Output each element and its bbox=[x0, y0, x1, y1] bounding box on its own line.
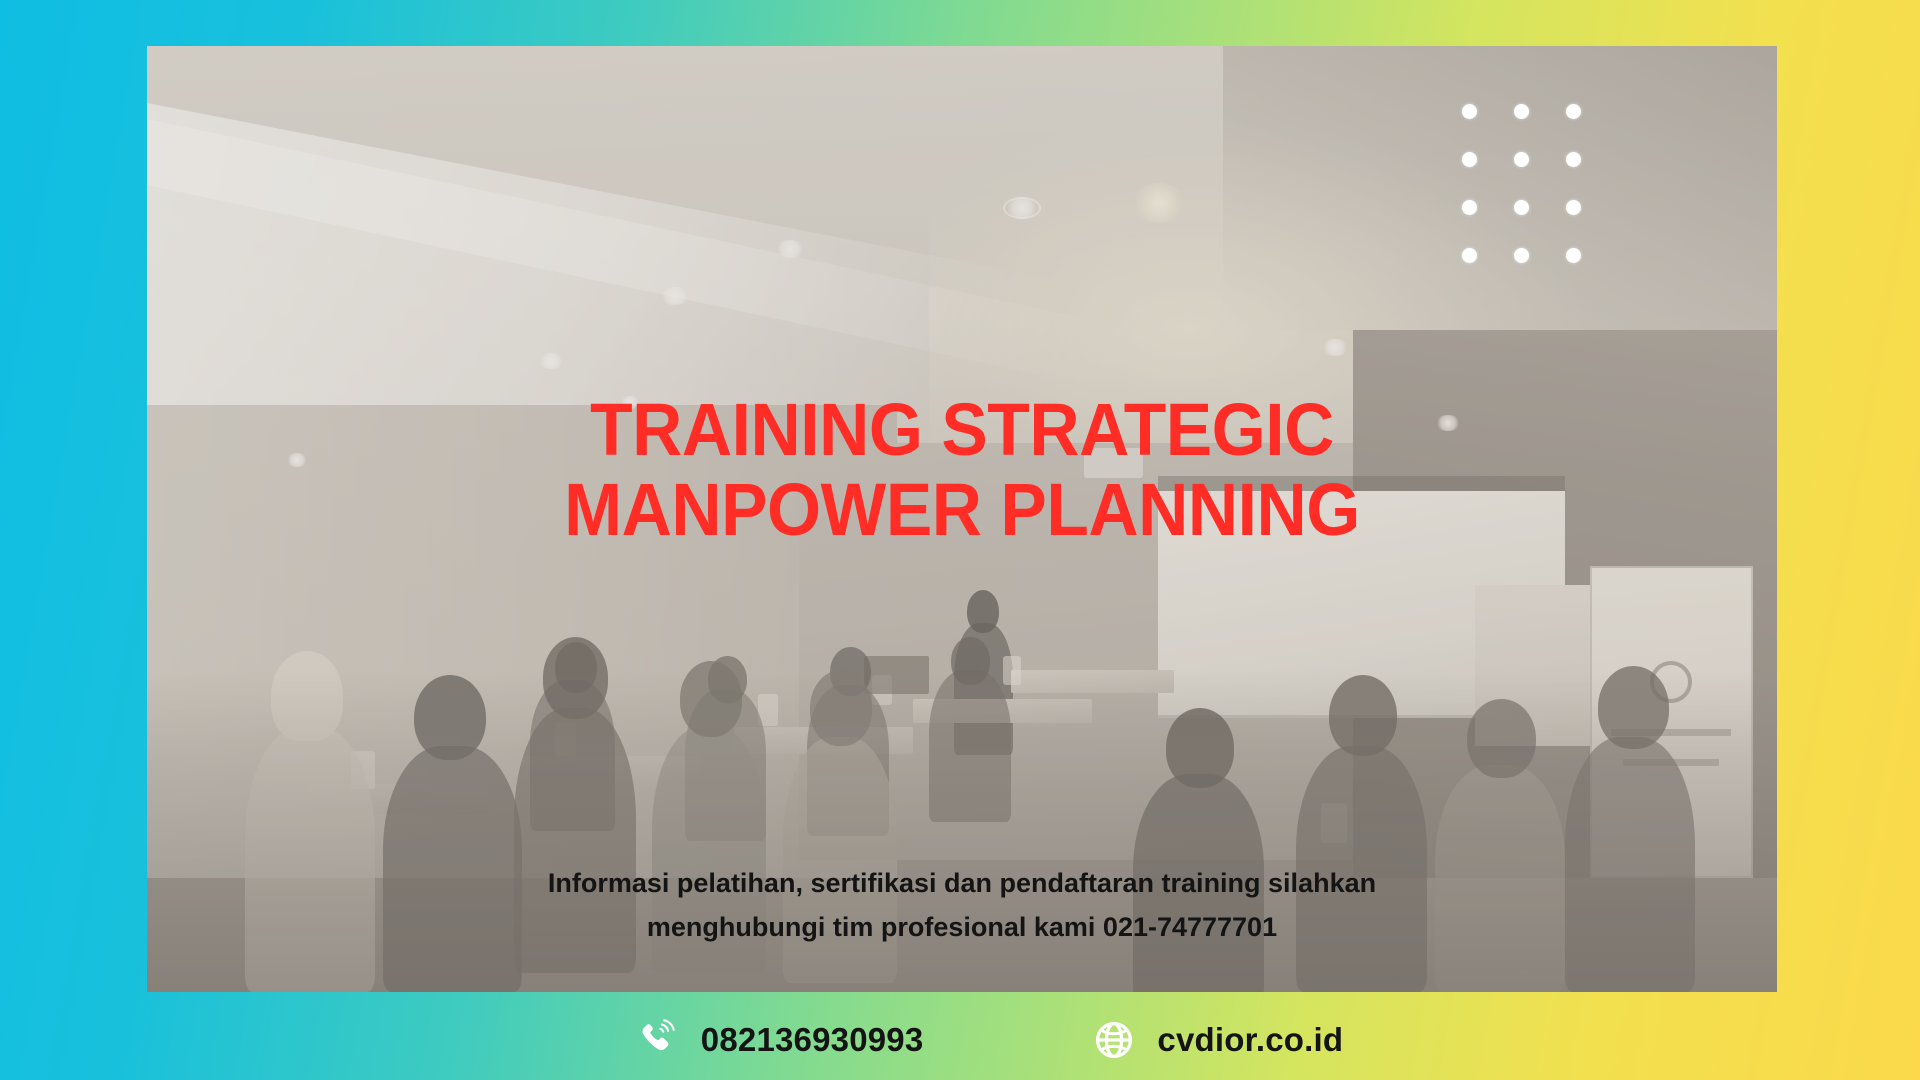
sub-caption-line-1: Informasi pelatihan, sertifikasi dan pen… bbox=[147, 861, 1777, 905]
grid-dot bbox=[1462, 152, 1477, 167]
grid-dot bbox=[1462, 104, 1477, 119]
contact-bar: 082136930993 cvdior.co.id bbox=[0, 1000, 1920, 1080]
training-room-photo: TRAINING STRATEGIC MANPOWER PLANNING Inf… bbox=[147, 46, 1777, 992]
phone-ringing-icon bbox=[637, 1019, 679, 1061]
poster-canvas: TRAINING STRATEGIC MANPOWER PLANNING Inf… bbox=[0, 0, 1920, 1080]
page-title: TRAINING STRATEGIC MANPOWER PLANNING bbox=[196, 390, 1728, 550]
grid-dot bbox=[1514, 152, 1529, 167]
grid-dot bbox=[1462, 200, 1477, 215]
grid-dot bbox=[1514, 200, 1529, 215]
grid-dot bbox=[1514, 104, 1529, 119]
grid-dot bbox=[1566, 152, 1581, 167]
grid-dot bbox=[1566, 104, 1581, 119]
contact-website[interactable]: cvdior.co.id bbox=[1093, 1019, 1343, 1061]
globe-icon bbox=[1093, 1019, 1135, 1061]
page-title-line-1: TRAINING STRATEGIC bbox=[196, 390, 1728, 470]
sub-caption-line-2: menghubungi tim profesional kami 021-747… bbox=[147, 905, 1777, 949]
phone-number: 082136930993 bbox=[701, 1021, 924, 1059]
grid-dot bbox=[1514, 248, 1529, 263]
sub-caption: Informasi pelatihan, sertifikasi dan pen… bbox=[147, 861, 1777, 949]
website-url: cvdior.co.id bbox=[1157, 1021, 1343, 1059]
grid-dot bbox=[1566, 248, 1581, 263]
grid-dot bbox=[1462, 248, 1477, 263]
grid-dot bbox=[1566, 200, 1581, 215]
dot-grid-decoration bbox=[1462, 104, 1581, 263]
page-title-line-2: MANPOWER PLANNING bbox=[196, 470, 1728, 550]
contact-phone[interactable]: 082136930993 bbox=[637, 1019, 924, 1061]
